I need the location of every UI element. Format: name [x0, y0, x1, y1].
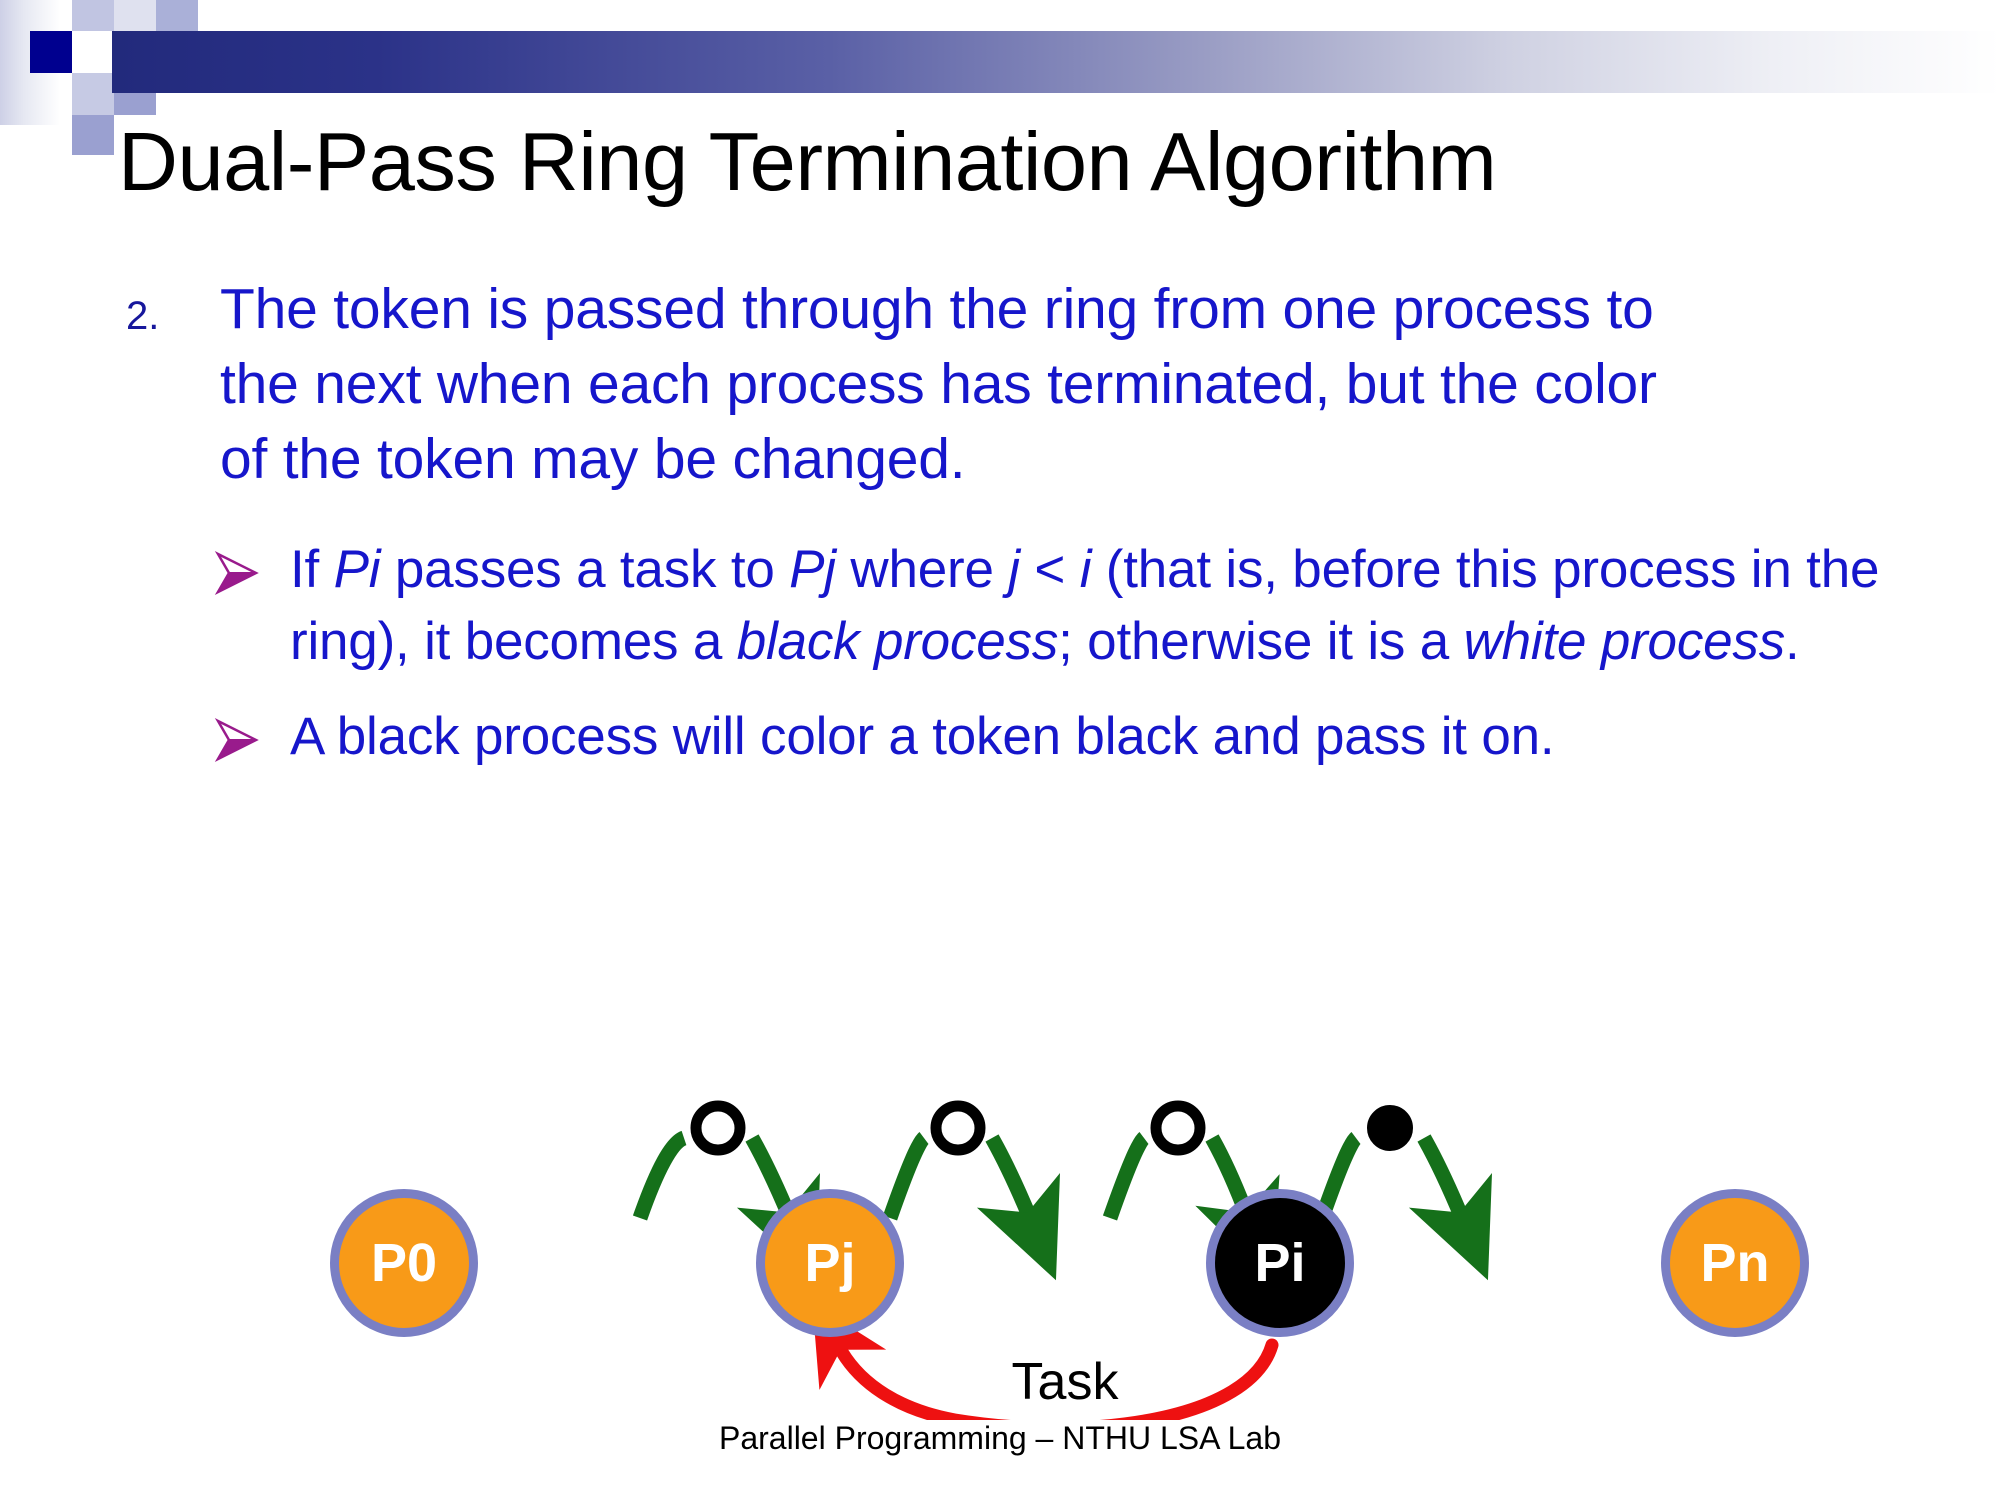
sub-bullet-item-2: A black process will color a token black… [0, 701, 2000, 774]
process-node-pn: Pn [1661, 1189, 1809, 1337]
process-node-p0: P0 [330, 1189, 478, 1337]
numbered-item-text: The token is passed through the ring fro… [220, 272, 1710, 498]
sub-bullet-item-1: If Pi passes a task to Pj where j < i (t… [0, 534, 2000, 679]
header-decoration [0, 0, 2000, 125]
list-number-marker: 2. [118, 272, 220, 339]
token-pass-arrow-1 [640, 1106, 790, 1218]
token-black [1368, 1106, 1412, 1150]
deco-square-topbar [156, 0, 198, 31]
sub-bullet-text-1: If Pi passes a task to Pj where j < i (t… [290, 534, 1930, 679]
token-pass-arrow-3 [1110, 1106, 1248, 1218]
token-white [936, 1106, 980, 1150]
process-node-label: Pn [1700, 1232, 1769, 1294]
sub-bullet-list: If Pi passes a task to Pj where j < i (t… [0, 534, 2000, 774]
ring-token-diagram: Task P0PjPiPn [0, 1090, 2000, 1420]
process-node-label: P0 [371, 1232, 437, 1294]
token-arrow-up-stroke [1110, 1138, 1144, 1218]
task-arrow-label: Task [975, 1352, 1155, 1412]
process-node-label: Pi [1254, 1232, 1305, 1294]
slide-content: 2. The token is passed through the ring … [0, 272, 2000, 774]
process-node-pi: Pi [1206, 1189, 1354, 1337]
token-arrow-up-stroke [890, 1138, 924, 1218]
page-title: Dual-Pass Ring Termination Algorithm [118, 120, 1918, 203]
process-node-pj: Pj [756, 1189, 904, 1337]
deco-square-blue2 [72, 115, 114, 155]
slide-footer: Parallel Programming – NTHU LSA Lab [0, 1420, 2000, 1457]
deco-square-light [72, 73, 114, 115]
token-pass-arrow-2 [890, 1106, 1030, 1218]
token-white [696, 1106, 740, 1150]
numbered-list-item: 2. The token is passed through the ring … [0, 272, 2000, 498]
arrow-bullet-icon [208, 534, 290, 607]
process-node-label: Pj [804, 1232, 855, 1294]
token-pass-arrows [640, 1106, 1462, 1218]
deco-square-pale [114, 0, 156, 31]
token-arrow-up-stroke [640, 1138, 684, 1218]
token-arrow-down-stroke [992, 1138, 1030, 1218]
token-white [1156, 1106, 1200, 1150]
token-arrow-down-stroke [1424, 1138, 1462, 1218]
header-gradient-bar [112, 31, 2000, 93]
deco-square-navy [30, 31, 72, 73]
deco-square-mid [72, 0, 114, 31]
sub-bullet-text-2: A black process will color a token black… [290, 701, 1930, 774]
arrow-bullet-icon [208, 701, 290, 774]
token-pass-arrow-4 [1322, 1106, 1462, 1218]
